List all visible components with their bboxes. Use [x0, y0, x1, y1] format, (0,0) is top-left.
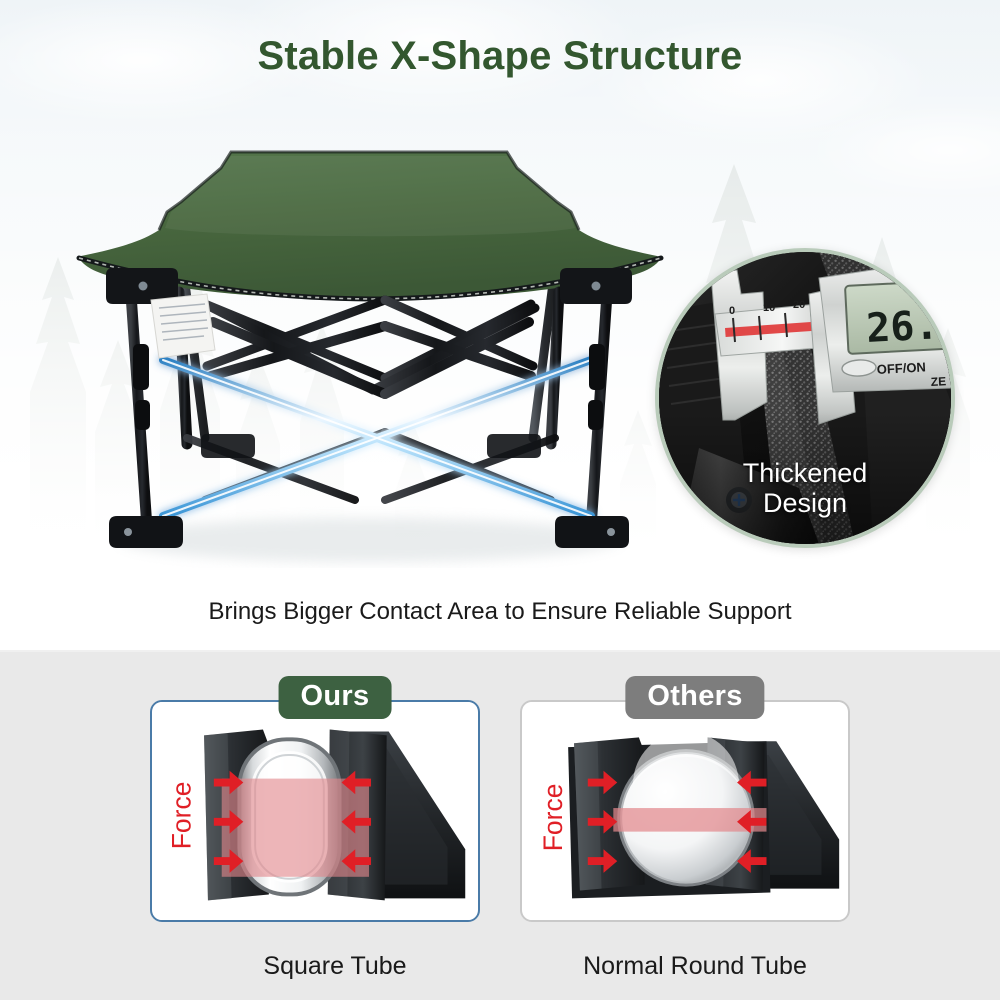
badge-ours: Ours [279, 676, 392, 719]
scale-tick-10: 10 [763, 302, 775, 314]
force-arrows-left [214, 771, 243, 873]
page-title: Stable X-Shape Structure [0, 34, 1000, 79]
infographic-page: Stable X-Shape Structure [0, 0, 1000, 1000]
force-arrows-right [737, 771, 766, 873]
card-others: Force [520, 700, 850, 922]
badge-others: Others [625, 676, 764, 719]
caption-square-tube: Square Tube [145, 952, 525, 981]
comparison-item-others: Others [505, 676, 885, 926]
caliper-zero-label: ZE [930, 374, 946, 389]
caliper-power-label: OFF/ON [876, 359, 926, 377]
scale-tick-0: 0 [729, 305, 735, 317]
force-label-others: Force [538, 784, 568, 852]
force-label-ours: Force [166, 782, 196, 850]
force-arrows-right [342, 771, 371, 873]
scale-tick-20: 20 [793, 299, 805, 311]
card-ours: Force [150, 700, 480, 922]
top-subcaption: Brings Bigger Contact Area to Ensure Rel… [0, 598, 1000, 626]
caliper-inset-circle: 0 10 20 26.65 OFF/ON ZE Thickene [655, 248, 955, 548]
care-label-tag [151, 294, 215, 358]
comparison-row: Ours [0, 676, 1000, 926]
comparison-section: Ours [0, 652, 1000, 1000]
comparison-item-ours: Ours [145, 676, 525, 926]
caption-round-tube: Normal Round Tube [505, 952, 885, 981]
top-section: Stable X-Shape Structure [0, 0, 1000, 652]
product-image-cot [55, 108, 685, 568]
force-arrows-left [588, 771, 617, 873]
